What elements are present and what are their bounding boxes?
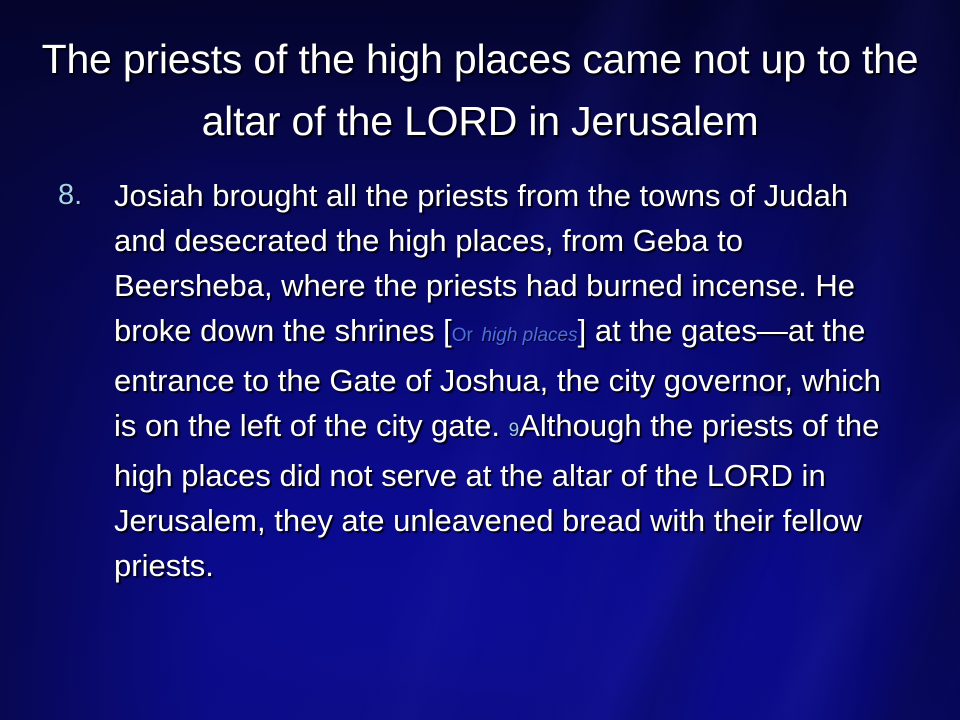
list-item: 8. Josiah brought all the priests from t… — [58, 173, 894, 588]
slide-body: 8. Josiah brought all the priests from t… — [58, 173, 894, 588]
slide-title: The priests of the high places came not … — [18, 28, 942, 153]
presentation-slide: The priests of the high places came not … — [0, 0, 960, 720]
verse-number: 9 — [509, 420, 520, 441]
scripture-passage: Josiah brought all the priests from the … — [114, 173, 894, 588]
list-item-number: 8. — [58, 173, 114, 218]
slide-content: The priests of the high places came not … — [0, 0, 960, 720]
footnote-label: Or — [452, 325, 473, 346]
footnote-text: high places — [481, 325, 577, 346]
